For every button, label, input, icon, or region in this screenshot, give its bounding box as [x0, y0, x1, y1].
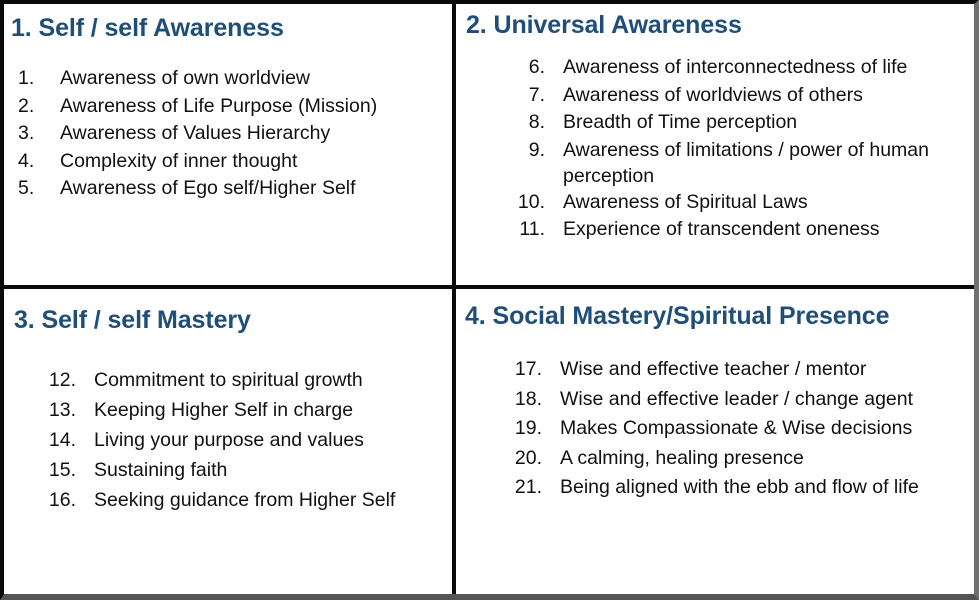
list-item: 12. Commitment to spiritual growth — [0, 365, 452, 395]
list-item: 6. Awareness of interconnectedness of li… — [456, 54, 979, 82]
list-item: 17. Wise and effective teacher / mentor — [456, 355, 979, 385]
list-item-text: Awareness of own worldview — [60, 65, 452, 93]
list-item: 5. Awareness of Ego self/Higher Self — [0, 175, 452, 203]
list-item-text: Awareness of Spiritual Laws — [563, 189, 979, 217]
list-item: 19. Makes Compassionate & Wise decisions — [456, 414, 979, 444]
list-item-number: 8. — [489, 109, 563, 137]
list-item-number: 7. — [489, 82, 563, 110]
list-item-number: 14. — [20, 425, 94, 455]
list-item: 20. A calming, healing presence — [456, 444, 979, 474]
list-item: 16. Seeking guidance from Higher Self — [0, 485, 452, 515]
list-item-number: 15. — [20, 455, 94, 485]
list-item-number: 1. — [18, 65, 60, 93]
list-item: 10. Awareness of Spiritual Laws — [456, 189, 979, 217]
list-item-text: Sustaining faith — [94, 455, 452, 485]
quadrant-1-heading: 1. Self / self Awareness — [11, 14, 452, 43]
list-item-text: Wise and effective leader / change agent — [560, 385, 979, 415]
list-item-text: Being aligned with the ebb and flow of l… — [560, 473, 979, 503]
list-item: 11. Experience of transcendent oneness — [456, 216, 979, 244]
quadrant-social-mastery-spiritual-presence: 4. Social Mastery/Spiritual Presence 17.… — [456, 289, 979, 600]
list-item-text: Wise and effective teacher / mentor — [560, 355, 979, 385]
quadrant-2-list: 6. Awareness of interconnectedness of li… — [456, 54, 979, 244]
list-item: 18. Wise and effective leader / change a… — [456, 385, 979, 415]
list-item-number: 4. — [18, 148, 60, 176]
list-item-text: Commitment to spiritual growth — [94, 365, 452, 395]
list-item-text: Awareness of worldviews of others — [563, 82, 979, 110]
list-item: 21. Being aligned with the ebb and flow … — [456, 473, 979, 503]
list-item-number: 17. — [486, 355, 560, 385]
list-item-number: 13. — [20, 395, 94, 425]
list-item-number: 16. — [20, 485, 94, 515]
list-item: 13. Keeping Higher Self in charge — [0, 395, 452, 425]
list-item-number: 18. — [486, 385, 560, 415]
list-item: 2. Awareness of Life Purpose (Mission) — [0, 93, 452, 121]
list-item: 14. Living your purpose and values — [0, 425, 452, 455]
list-item: 7. Awareness of worldviews of others — [456, 82, 979, 110]
list-item: 15. Sustaining faith — [0, 455, 452, 485]
quadrant-3-list: 12. Commitment to spiritual growth 13. K… — [0, 365, 452, 515]
list-item-number: 12. — [20, 365, 94, 395]
quadrant-self-self-awareness: 1. Self / self Awareness 1. Awareness of… — [0, 0, 456, 289]
list-item-number: 20. — [486, 444, 560, 474]
list-item: 4. Complexity of inner thought — [0, 148, 452, 176]
list-item-text: Awareness of Ego self/Higher Self — [60, 175, 452, 203]
quadrant-universal-awareness: 2. Universal Awareness 6. Awareness of i… — [456, 0, 979, 289]
list-item-number: 19. — [486, 414, 560, 444]
list-item-number: 3. — [18, 120, 60, 148]
quadrant-4-list: 17. Wise and effective teacher / mentor … — [456, 355, 979, 503]
list-item-text: A calming, healing presence — [560, 444, 979, 474]
list-item-text: Complexity of inner thought — [60, 148, 452, 176]
quadrant-3-heading: 3. Self / self Mastery — [14, 306, 452, 335]
quadrant-2-heading: 2. Universal Awareness — [466, 11, 979, 40]
list-item-number: 2. — [18, 93, 60, 121]
list-item-text: Awareness of Values Hierarchy — [60, 120, 452, 148]
list-item-number: 5. — [18, 175, 60, 203]
list-item-text: Awareness of interconnectedness of life — [563, 54, 979, 82]
list-item-number: 21. — [486, 473, 560, 503]
list-item: 1. Awareness of own worldview — [0, 65, 452, 93]
list-item-text: Makes Compassionate & Wise decisions — [560, 414, 979, 444]
list-item-text: Experience of transcendent oneness — [563, 216, 979, 244]
quadrant-self-self-mastery: 3. Self / self Mastery 12. Commitment to… — [0, 289, 456, 600]
list-item-number: 10. — [489, 189, 563, 217]
list-item-text: Awareness of Life Purpose (Mission) — [60, 93, 452, 121]
list-item: 8. Breadth of Time perception — [456, 109, 979, 137]
quadrant-4-heading: 4. Social Mastery/Spiritual Presence — [465, 302, 979, 331]
list-item: 9. Awareness of limitations / power of h… — [456, 137, 979, 189]
list-item-text: Keeping Higher Self in charge — [94, 395, 452, 425]
list-item-number: 9. — [489, 137, 563, 163]
list-item-text: Living your purpose and values — [94, 425, 452, 455]
list-item-text: Breadth of Time perception — [563, 109, 979, 137]
list-item-text: Awareness of limitations / power of huma… — [563, 137, 979, 189]
list-item-number: 6. — [489, 54, 563, 82]
list-item: 3. Awareness of Values Hierarchy — [0, 120, 452, 148]
quadrant-matrix: 1. Self / self Awareness 1. Awareness of… — [0, 0, 979, 600]
quadrant-1-list: 1. Awareness of own worldview 2. Awarene… — [0, 65, 452, 203]
list-item-number: 11. — [489, 216, 563, 244]
list-item-text: Seeking guidance from Higher Self — [94, 485, 452, 515]
